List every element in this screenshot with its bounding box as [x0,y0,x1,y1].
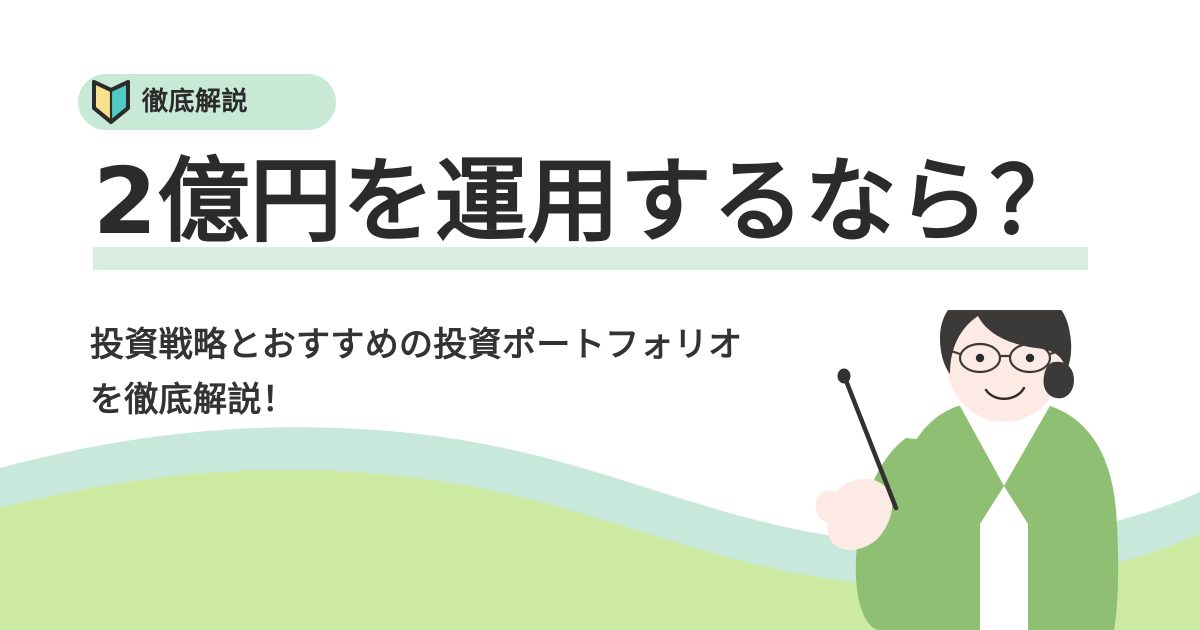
page-subtitle-line-1: 投資戦略とおすすめの投資ポートフォリオ [90,318,742,373]
eye-right [1026,354,1034,362]
shoshinsha-mark-icon [90,79,132,125]
title-block: 2億円を運用するなら？ [93,150,1082,253]
category-badge-label: 徹底解説 [142,89,248,115]
hair-side-bun [1044,362,1075,399]
og-image-canvas: 徹底解説 2億円を運用するなら？ 投資戦略とおすすめの投資ポートフォリオ を徹底… [0,0,1200,630]
page-title: 2億円を運用するなら？ [93,150,1082,253]
page-subtitle-line-2: を徹底解説！ [90,373,742,428]
category-badge: 徹底解説 [78,74,336,130]
pointer-stick-tip [838,369,851,384]
pointer-stick [820,360,930,520]
page-subtitle: 投資戦略とおすすめの投資ポートフォリオ を徹底解説！ [90,318,742,428]
eye-left [976,354,984,362]
